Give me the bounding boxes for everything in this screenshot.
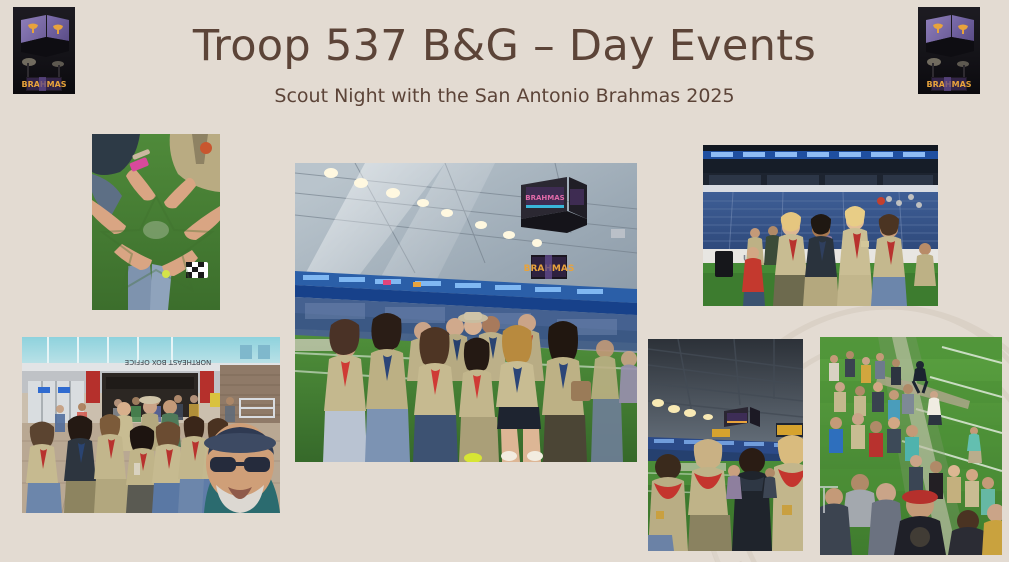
scouts-looking-up-photo: Scouts seen from behind looking up at th… — [648, 339, 803, 551]
stadium-entrance-selfie-photo: Group selfie with the troop outside the … — [22, 337, 280, 513]
page-title: Troop 537 B&G – Day Events — [0, 22, 1009, 71]
slide-canvas: Troop 537 B&G – Day Events Scout Night w… — [0, 0, 1009, 562]
title-block: Troop 537 B&G – Day Events Scout Night w… — [0, 22, 1009, 108]
brahmas-jumbotron-logo-left: Stadium jumbotron showing the Brahmas bu… — [13, 7, 75, 94]
troop-on-field-photo: Troop 537 scouts in uniform posing on th… — [295, 163, 637, 462]
svg-text:BRAHMAS: BRAHMAS — [525, 194, 564, 202]
field-crowd-photo: Crowd of fans and scouts walking across … — [820, 337, 1002, 555]
brahmas-jumbotron-logo-right: Stadium jumbotron showing the Brahmas bu… — [918, 7, 980, 94]
scout-hands-star-photo: Overhead view of scouts' hands forming a… — [92, 134, 220, 310]
four-scouts-field-photo: Four scouts standing on the field in fro… — [703, 145, 938, 306]
svg-text:NORTHEAST BOX OFFICE: NORTHEAST BOX OFFICE — [125, 358, 212, 366]
page-subtitle: Scout Night with the San Antonio Brahmas… — [0, 85, 1009, 108]
